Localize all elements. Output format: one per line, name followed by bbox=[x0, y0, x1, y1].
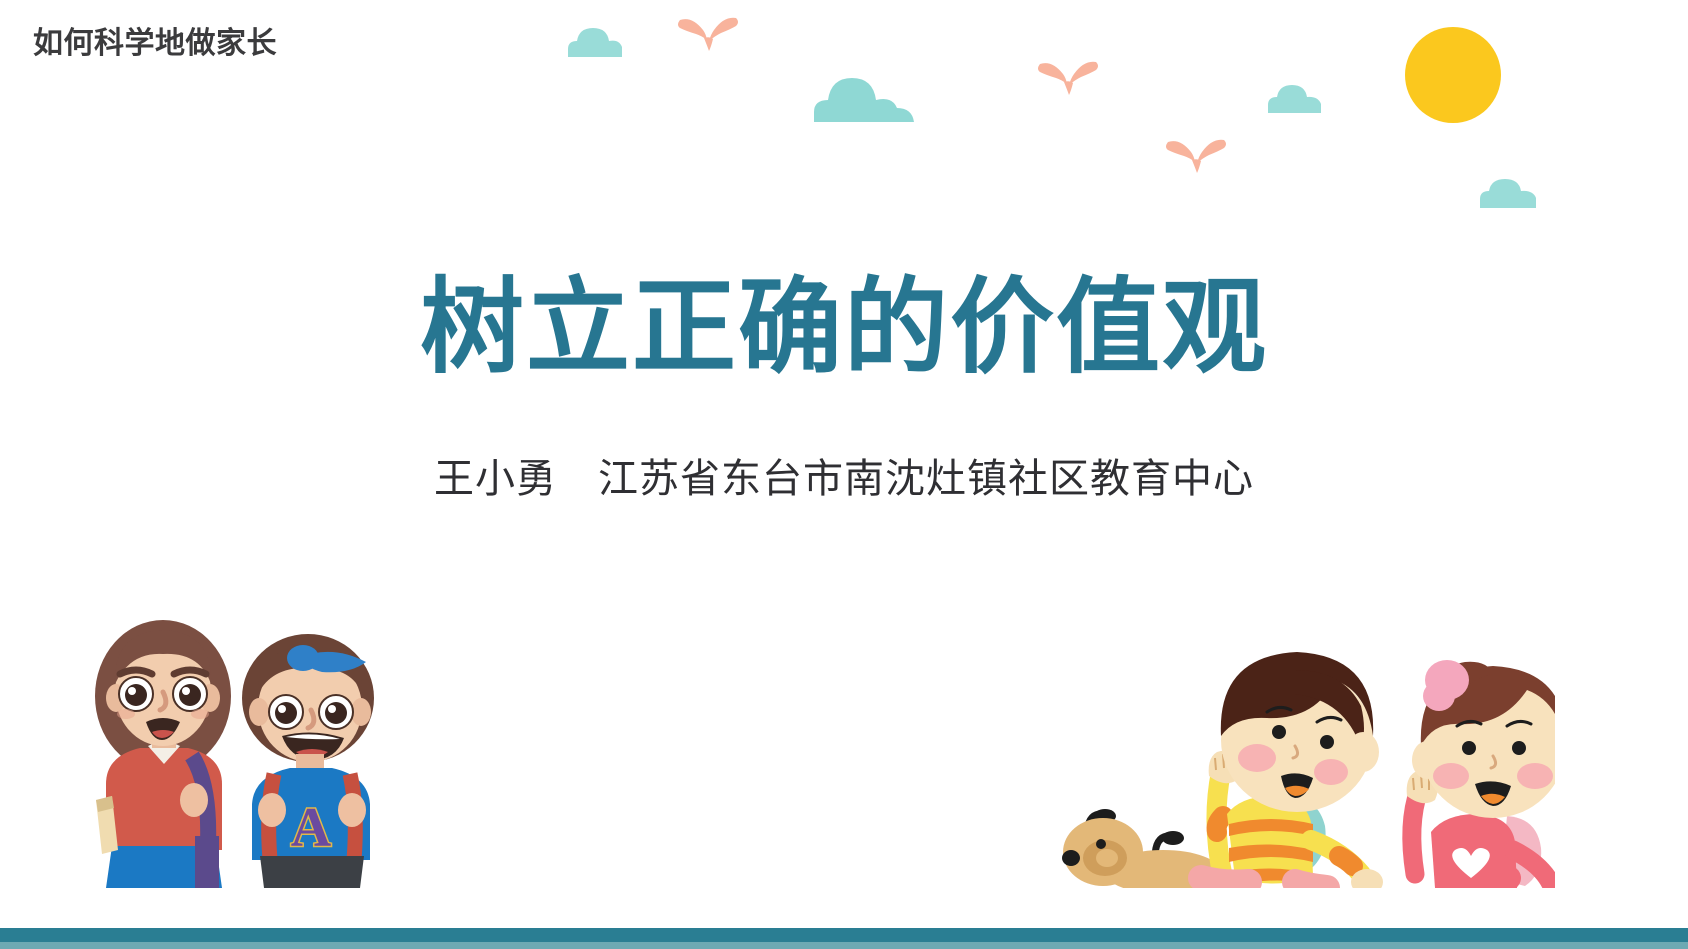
page-title: 树立正确的价值观 bbox=[0, 272, 1688, 384]
sun-icon bbox=[1405, 27, 1501, 123]
slide-header-title: 如何科学地做家长 bbox=[33, 18, 277, 62]
footer-bar-primary bbox=[0, 928, 1688, 942]
presentation-slide: 如何科学地做家长 bbox=[0, 0, 1688, 949]
cloud-icon bbox=[812, 74, 918, 124]
bird-icon bbox=[1164, 136, 1228, 174]
author-affiliation-subtitle: 王小勇 江苏省东台市南沈灶镇社区教育中心 bbox=[0, 455, 1688, 503]
footer-bar-secondary bbox=[0, 942, 1688, 949]
bird-icon bbox=[676, 14, 740, 52]
running-children-and-dog-illustration bbox=[995, 600, 1555, 888]
cloud-icon bbox=[1478, 176, 1546, 210]
bird-icon bbox=[1036, 58, 1100, 96]
cloud-icon bbox=[566, 25, 636, 59]
two-students-illustration: A bbox=[60, 588, 390, 888]
svg-text:A: A bbox=[291, 797, 332, 859]
cloud-icon bbox=[1266, 83, 1330, 115]
